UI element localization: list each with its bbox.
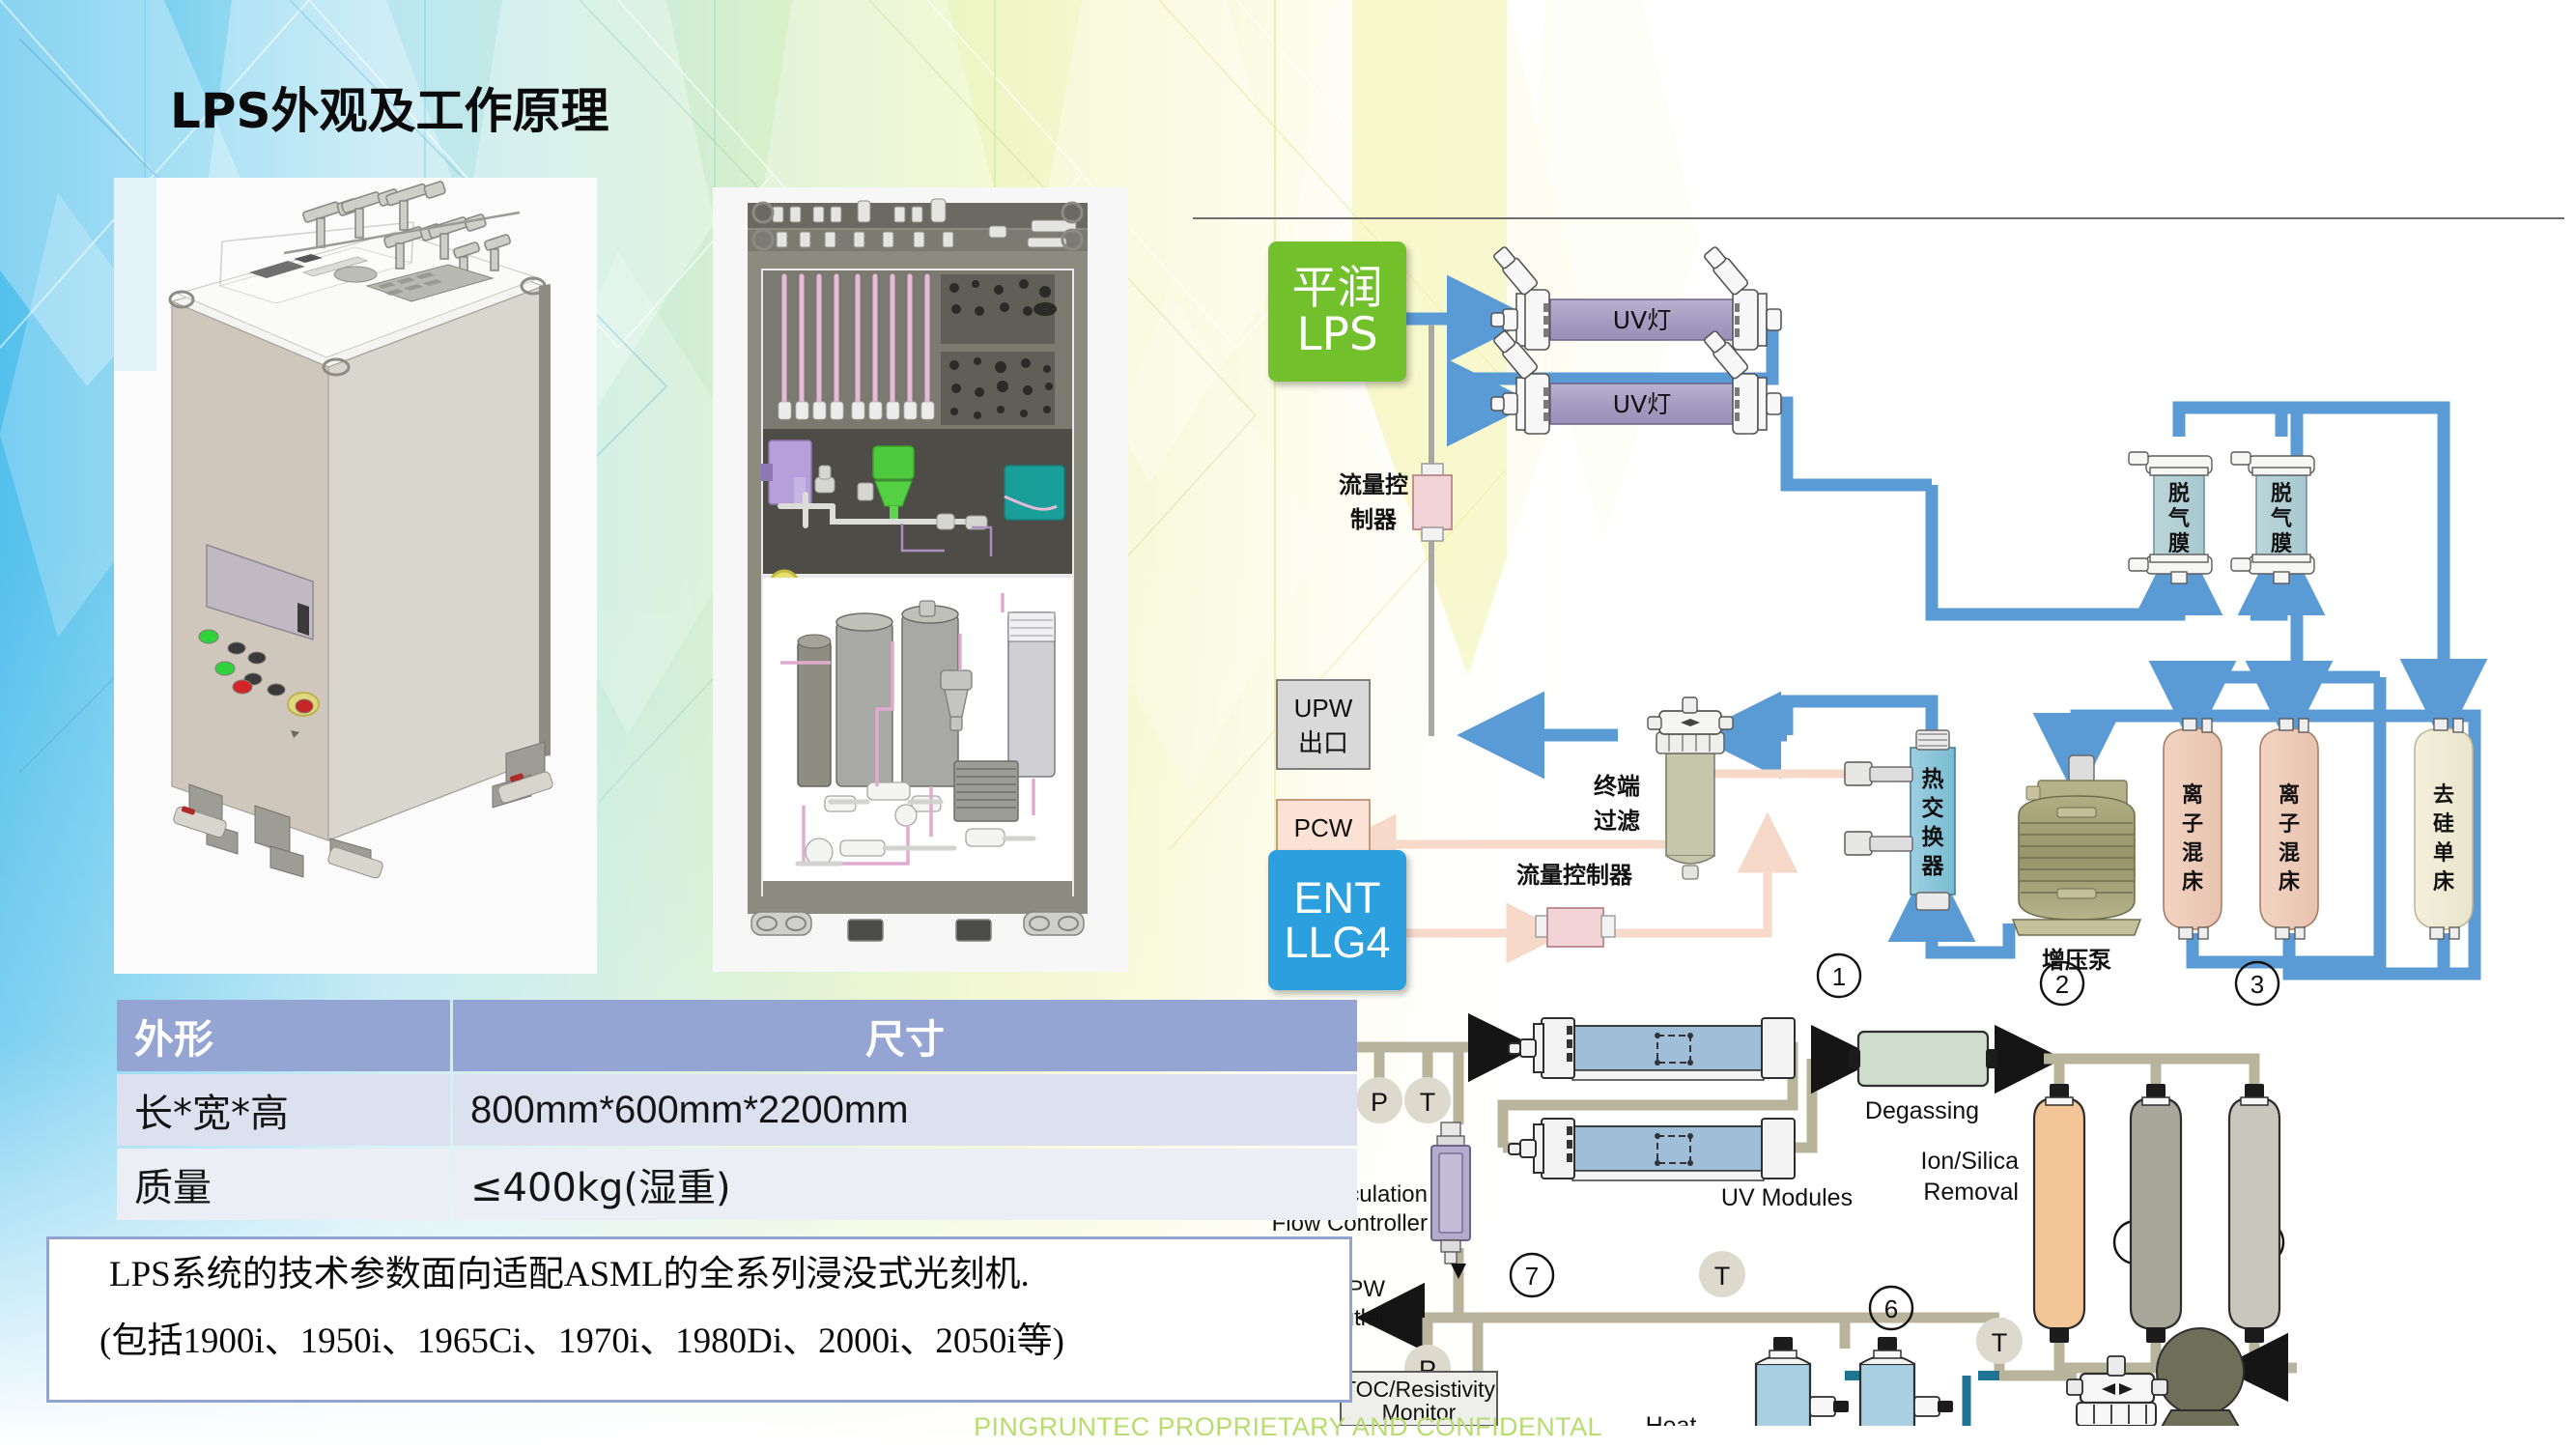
flow-controller-1-line2: 制器 (1350, 506, 1398, 533)
degas2-char3: 膜 (2271, 532, 2292, 556)
lps-flow-controller-1: 流量控 制器 (1339, 464, 1452, 541)
silbed-char1: 去 (2433, 783, 2454, 808)
sensor-label-t2: T (1714, 1262, 1731, 1291)
ion-silica-line2: Removal (1923, 1179, 2019, 1206)
callout-7-label: 7 (1525, 1262, 1539, 1291)
silbed-char2: 硅 (2433, 812, 2454, 837)
spec-table: 外形 尺寸 长*宽*高 800mm*600mm*2200mm 质量 ≤400kg… (114, 997, 1360, 1223)
page-title: LPS外观及工作原理 (170, 72, 609, 142)
degas1-char2: 气 (2167, 506, 2190, 531)
toc-monitor-line1: TOC/Resistivity (1343, 1377, 1496, 1402)
note-line-2: (包括1900i、1950i、1965Ci、1970i、1980Di、2000i… (49, 1293, 1349, 1359)
uv-lamp-2-label: UV灯 (1613, 390, 1671, 418)
table-row: 质量 ≤400kg(湿重) (117, 1149, 1357, 1220)
bed1-char3: 混 (2182, 841, 2203, 866)
sensor-label-p1: P (1371, 1088, 1388, 1117)
hx-char-1: 热 (1922, 767, 1944, 792)
lps-silica-bed: 去 硅 单 床 (2415, 719, 2473, 939)
note-line-1: LPS系统的技术参数面向适配ASML的全系列浸没式光刻机. (49, 1257, 1349, 1293)
final-filter-line1: 终端 (1594, 773, 1640, 800)
upw-outlet-line2: 出口 (1298, 729, 1348, 758)
table-header-shape: 外形 (117, 1000, 450, 1071)
ion-silica-line1: Ion/Silica (1921, 1148, 2020, 1175)
final-filter-line2: 过滤 (1594, 808, 1640, 835)
table-header-row: 外形 尺寸 (117, 1000, 1357, 1071)
confidential-footer: PINGRUNTEC PROPRIETARY AND CONFIDENTAL (0, 1412, 2576, 1442)
bed1-char1: 离 (2182, 782, 2203, 808)
ent-uv-module-2: UV Modules (1509, 1119, 1853, 1211)
ent-degassing: Degassing (1849, 1032, 1997, 1124)
ent-process-diagram: Facility UPW UPW Outlet P T T P T (1266, 954, 2297, 1426)
lps-final-filter: 终端 过滤 (1594, 697, 1733, 879)
hx-char-2: 交 (1922, 795, 1944, 821)
note-box: LPS系统的技术参数面向适配ASML的全系列浸没式光刻机. (包括1900i、1… (46, 1236, 1352, 1403)
bed2-char4: 床 (2279, 869, 2301, 895)
degassing-label: Degassing (1865, 1097, 1979, 1124)
badge-pingrun-lps: 平润 LPS (1268, 241, 1406, 382)
ent-bed-2 (2131, 1084, 2181, 1343)
bed2-char1: 离 (2279, 782, 2300, 808)
uv-lamp-1-label: UV灯 (1613, 306, 1671, 334)
lps-degas-membrane-1: 脱 气 膜 (2129, 452, 2212, 583)
table-row: 长*宽*高 800mm*600mm*2200mm (117, 1074, 1357, 1146)
callout-6-label: 6 (1884, 1294, 1898, 1323)
lps-booster-pump: 增压泵 (2013, 755, 2140, 974)
ent-bed-1 (2034, 1084, 2084, 1343)
pcw-outlet-line1: PCW (1294, 813, 1353, 842)
degas2-char2: 气 (2270, 506, 2292, 531)
callout-2-label: 2 (2055, 970, 2069, 999)
hx-char-3: 换 (1922, 824, 1945, 850)
lps-exterior-photo (114, 178, 597, 974)
lps-mixed-bed-2: 离 子 混 床 (2260, 719, 2318, 939)
badge-lps-line2: LPS (1296, 312, 1377, 358)
lps-interior-photo (713, 187, 1128, 972)
ent-bed-3 (2229, 1084, 2279, 1343)
lps-heat-exchanger: 热 交 换 器 (1845, 730, 1955, 910)
sensor-label-t3: T (1992, 1328, 2008, 1357)
ent-uv-module-1 (1509, 1018, 1795, 1080)
badge-ent-line2: LLG4 (1284, 921, 1390, 965)
row-label-mass: 质量 (117, 1149, 450, 1220)
row-label-dimensions: 长*宽*高 (117, 1074, 450, 1146)
badge-ent-line1: ENT (1294, 876, 1381, 921)
lps-process-diagram: UPW 入口 UPW 出口 PCW 出口 PCW 入口 流量控 制器 (1277, 244, 2475, 978)
bed1-char2: 子 (2182, 812, 2203, 837)
callout-1-label: 1 (1832, 962, 1846, 991)
lps-mixed-bed-1: 离 子 混 床 (2164, 719, 2222, 939)
lps-uv-lamp-1: UV灯 (1491, 244, 1781, 350)
row-value-mass: ≤400kg(湿重) (453, 1149, 1357, 1220)
silbed-char4: 床 (2433, 869, 2455, 895)
hx-char-4: 器 (1921, 854, 1945, 879)
bed2-char3: 混 (2279, 841, 2300, 866)
table-header-size: 尺寸 (453, 1000, 1357, 1071)
callout-3-label: 3 (2250, 970, 2264, 999)
booster-pump-label: 增压泵 (2042, 947, 2111, 974)
bed2-char2: 子 (2279, 812, 2300, 837)
lps-degas-membrane-2: 脱 气 膜 (2231, 452, 2314, 583)
uv-modules-label: UV Modules (1721, 1184, 1853, 1211)
sensor-label-t1: T (1420, 1088, 1436, 1117)
badge-lps-line1: 平润 (1292, 266, 1383, 312)
flow-controller-1-line1: 流量控 (1339, 471, 1408, 498)
degas1-char1: 脱 (2168, 482, 2190, 506)
badge-ent-llg4: ENT LLG4 (1268, 850, 1406, 990)
degas1-char3: 膜 (2168, 532, 2190, 556)
lps-upw-outlet-node: UPW 出口 (1277, 680, 1370, 769)
section-divider (1193, 217, 2564, 219)
flow-controller-2-label: 流量控制器 (1516, 862, 1633, 889)
row-value-dimensions: 800mm*600mm*2200mm (453, 1074, 1357, 1146)
upw-outlet-line1: UPW (1294, 694, 1353, 723)
bed1-char4: 床 (2182, 869, 2204, 895)
silbed-char3: 单 (2433, 841, 2454, 866)
degas2-char1: 脱 (2271, 482, 2292, 506)
